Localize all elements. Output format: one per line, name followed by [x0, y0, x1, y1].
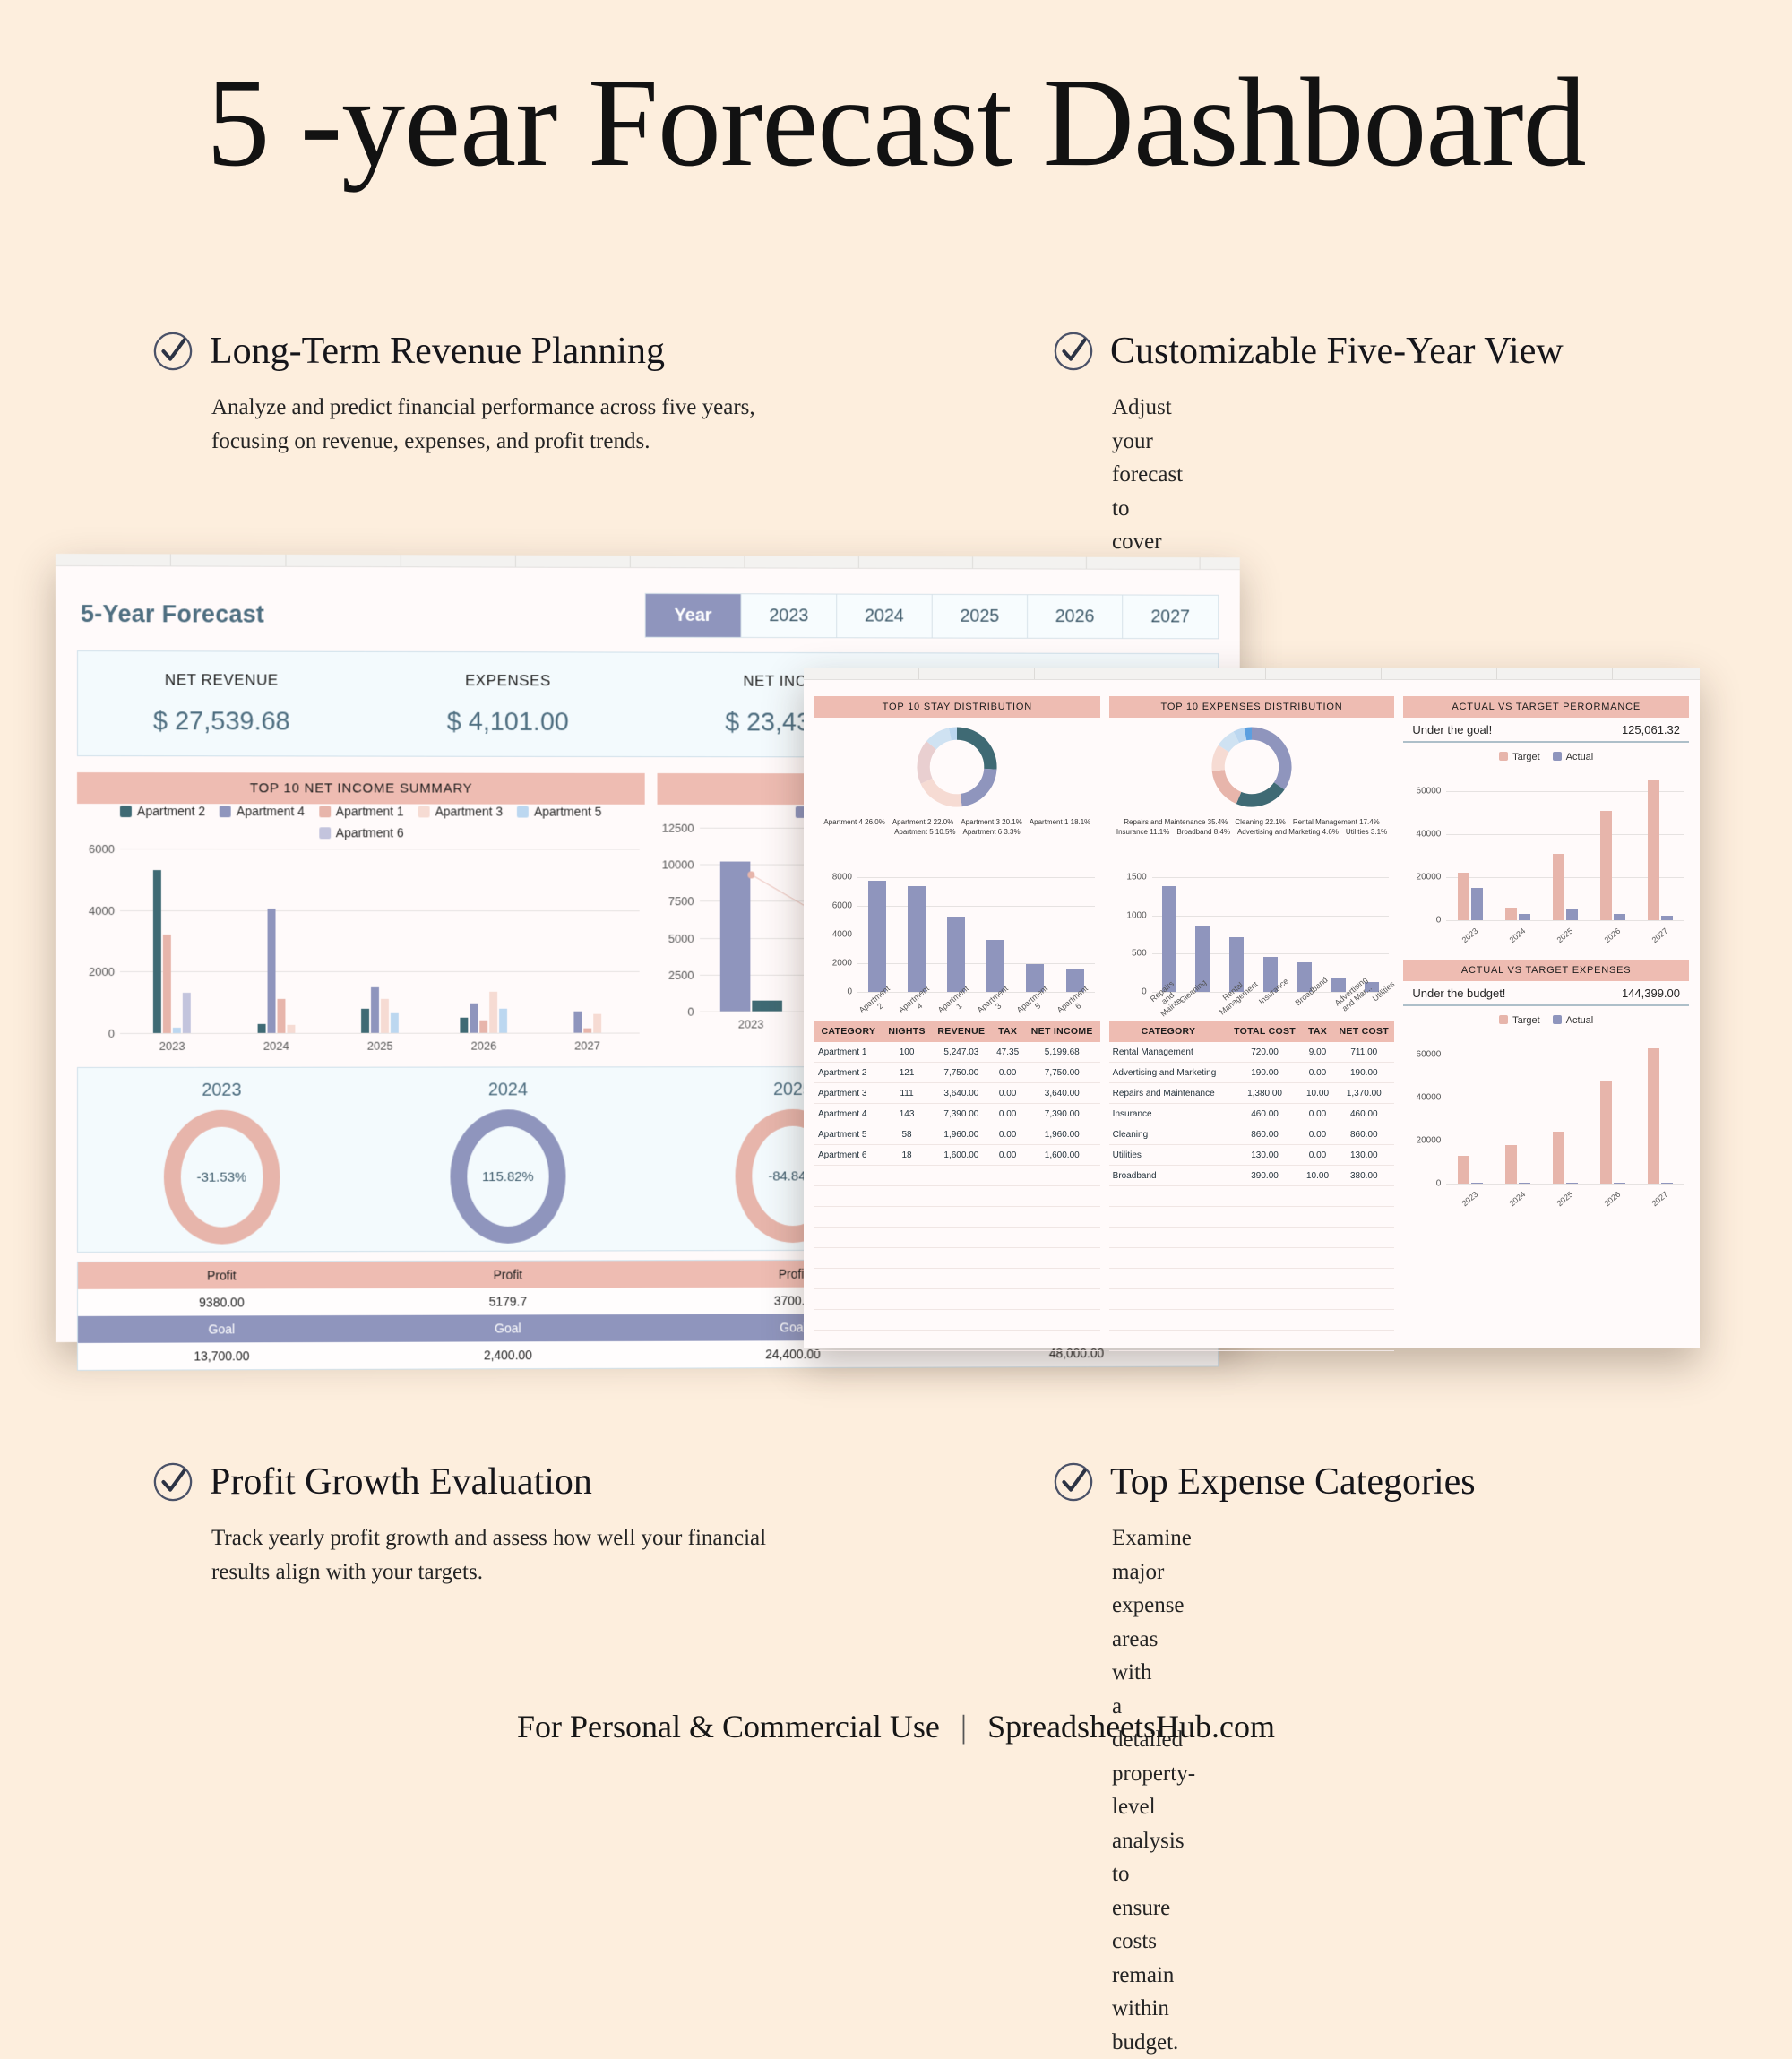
legend-item: Apartment 5 — [517, 805, 601, 819]
table-row-empty — [814, 1310, 1100, 1331]
table-cell: 0.00 — [991, 1063, 1023, 1083]
bar-group — [976, 877, 1015, 992]
donut-slice — [1224, 737, 1236, 749]
table-cell — [1333, 1186, 1394, 1207]
table-row-empty — [814, 1166, 1100, 1186]
table-cell — [814, 1228, 883, 1248]
goal-value: 13,700.00 — [78, 1342, 365, 1370]
table-cell: Apartment 1 — [814, 1042, 883, 1063]
table-cell — [883, 1186, 932, 1207]
bar-group — [1152, 877, 1186, 992]
table-cell: 1,380.00 — [1228, 1083, 1302, 1104]
table-cell — [1024, 1310, 1100, 1331]
table-cell: 0.00 — [1302, 1124, 1333, 1145]
year-tab-2027[interactable]: 2027 — [1123, 595, 1218, 638]
panel-header-stay: TOP 10 STAY DISTRIBUTION — [814, 696, 1100, 718]
bar-group — [1185, 877, 1219, 992]
bar — [267, 909, 275, 1033]
legend-item: Actual — [1553, 1015, 1594, 1026]
donut-label: Cleaning 22.1% — [1235, 818, 1285, 827]
expenses-status: Under the budget! 144,399.00 — [1403, 981, 1689, 1006]
year-tab-label[interactable]: Year — [646, 594, 742, 637]
bar — [480, 1021, 488, 1033]
table-cell: 3,640.00 — [931, 1083, 991, 1104]
features-bottom: Profit Growth Evaluation Track yearly pr… — [0, 1460, 1792, 2059]
plot-area — [1152, 877, 1390, 992]
table-cell: 18 — [883, 1145, 932, 1166]
bar — [908, 886, 926, 992]
chart-actual-vs-target-expenses: 020000400006000020232024202520262027 — [1403, 1033, 1689, 1203]
bar-group — [224, 849, 328, 1033]
table-cell: 0.00 — [991, 1145, 1023, 1166]
table-cell — [1228, 1248, 1302, 1269]
table-cell: 5,199.68 — [1024, 1042, 1100, 1063]
table-cell: 47.35 — [991, 1042, 1023, 1063]
table-column-header: CATEGORY — [1109, 1021, 1228, 1042]
table-cell: 0.00 — [991, 1104, 1023, 1124]
table-row-empty — [1109, 1269, 1395, 1289]
bar-group — [1589, 770, 1636, 920]
table-row-empty — [1109, 1248, 1395, 1269]
expenses-status-value: 144,399.00 — [1622, 986, 1680, 1000]
table-cell — [814, 1310, 883, 1331]
legend-item: Apartment 6 — [319, 825, 404, 840]
table-cell — [931, 1310, 991, 1331]
donut-label: Repairs and Maintenance 35.4% — [1124, 818, 1228, 827]
table-cell: 860.00 — [1333, 1124, 1394, 1145]
donut-year: 2023 — [78, 1081, 365, 1101]
table-cell: 111 — [883, 1083, 932, 1104]
profit-value: 5179.7 — [365, 1288, 650, 1315]
table-cell — [1109, 1310, 1228, 1331]
table-cell: 380.00 — [1333, 1166, 1394, 1186]
table-cell: 7,390.00 — [1024, 1104, 1100, 1124]
bar-group — [120, 849, 224, 1033]
goal-header: Goal — [78, 1315, 365, 1343]
table-row-empty — [814, 1248, 1100, 1269]
table-cell — [1302, 1207, 1333, 1228]
legend-item: Apartment 4 — [220, 804, 305, 818]
donut-label: Broadband 8.4% — [1176, 828, 1230, 837]
bar — [287, 1025, 295, 1033]
table-cell — [1024, 1331, 1100, 1351]
donut-slice — [924, 745, 932, 781]
x-axis-labels: 20232024202520262027 — [1446, 931, 1684, 940]
donut-chart — [908, 718, 1006, 816]
legend-item: Apartment 1 — [319, 804, 404, 818]
bar — [947, 917, 965, 992]
column-actual-vs-target: ACTUAL VS TARGET PERORMANCE Under the go… — [1403, 696, 1689, 1351]
table-cell: 720.00 — [1228, 1042, 1302, 1063]
bar — [1505, 908, 1517, 920]
donut-labels: Repairs and Maintenance 35.4%Cleaning 22… — [1109, 818, 1395, 837]
donut-labels: Apartment 4 26.0%Apartment 2 22.0%Apartm… — [814, 818, 1100, 837]
kpi-value: $ 4,101.00 — [365, 707, 650, 737]
table-cell — [991, 1207, 1023, 1228]
bar — [573, 1012, 582, 1033]
kpi-label: NET REVENUE — [78, 671, 365, 690]
goal-header: Goal — [365, 1314, 650, 1342]
bar — [1600, 1081, 1612, 1184]
legend-item: Apartment 3 — [418, 804, 504, 818]
donut-slice — [932, 734, 951, 745]
table-row-empty — [1109, 1310, 1395, 1331]
footer-right: SpreadsheetsHub.com — [987, 1709, 1275, 1745]
table-cell — [1333, 1289, 1394, 1310]
bar — [183, 993, 191, 1033]
year-selector[interactable]: Year 2023 2024 2025 2026 2027 — [645, 593, 1219, 639]
bar — [1566, 909, 1578, 920]
table-cell: 9.00 — [1302, 1042, 1333, 1063]
table-cell — [931, 1186, 991, 1207]
bar — [1553, 854, 1564, 920]
table-cell — [1024, 1166, 1100, 1186]
table-row-empty — [1109, 1331, 1395, 1351]
bar-group — [1322, 877, 1356, 992]
bar-group — [857, 877, 897, 992]
spreadsheet-column-headers — [804, 668, 1700, 680]
top-pink-headers — [804, 680, 1700, 687]
x-axis-labels: 20232024202520262027 — [120, 1039, 639, 1053]
panel-header-expenses: TOP 10 EXPENSES DISTRIBUTION — [1109, 696, 1395, 718]
donut-slice — [1245, 734, 1252, 735]
table-cell — [1333, 1310, 1394, 1331]
expense-table: CATEGORYTOTAL COSTTAXNET COST Rental Man… — [1109, 1021, 1395, 1351]
table-row-empty — [1109, 1207, 1395, 1228]
donut-label: Apartment 3 20.1% — [961, 818, 1021, 827]
table-cell — [1333, 1269, 1394, 1289]
plot-area — [120, 849, 639, 1033]
panel-net-income-summary: TOP 10 NET INCOME SUMMARY Apartment 2Apa… — [77, 772, 644, 1053]
chart-expenses-bars: 050010001500Repairs and Mainte...Cleanin… — [1109, 877, 1395, 1012]
bar-group — [1541, 1033, 1589, 1184]
table-cell — [1024, 1248, 1100, 1269]
bar — [1505, 1145, 1517, 1184]
table-row: Apartment 41437,390.000.007,390.00 — [814, 1104, 1100, 1124]
table-cell — [1333, 1207, 1394, 1228]
table-cell — [1024, 1228, 1100, 1248]
chart-top10-net-income: 020004000600020232024202520262027 — [77, 849, 644, 1053]
donut-year: 2024 — [365, 1080, 650, 1100]
table-cell — [1228, 1186, 1302, 1207]
bar-group — [432, 849, 536, 1032]
table-cell — [1333, 1331, 1394, 1351]
table-cell — [1302, 1248, 1333, 1269]
donut-label: Apartment 1 18.1% — [1030, 818, 1090, 827]
feature-title: Top Expense Categories — [1110, 1460, 1476, 1503]
y-axis: 0200004000060000 — [1403, 770, 1444, 920]
table-row: Apartment 11005,247.0347.355,199.68 — [814, 1042, 1100, 1063]
distribution-columns: TOP 10 STAY DISTRIBUTION Apartment 4 26.… — [804, 687, 1700, 1351]
bar-group — [1015, 877, 1055, 992]
table-row: Apartment 31113,640.000.003,640.00 — [814, 1083, 1100, 1104]
column-stay-distribution: TOP 10 STAY DISTRIBUTION Apartment 4 26.… — [814, 696, 1100, 1351]
table-cell — [1109, 1248, 1228, 1269]
feature-top-expense-categories: Top Expense Categories Examine major exp… — [63, 1460, 1089, 2059]
donut-label: Utilities 3.1% — [1346, 828, 1387, 837]
dashboard-title: 5-Year Forecast — [81, 600, 264, 629]
table-cell: Insurance — [1109, 1104, 1228, 1124]
performance-status-text: Under the goal! — [1412, 723, 1492, 737]
table-cell: 130.00 — [1333, 1145, 1394, 1166]
table-row-empty — [814, 1186, 1100, 1207]
kpi-net-revenue: NET REVENUE $ 27,539.68 — [78, 671, 365, 737]
table-cell — [1024, 1289, 1100, 1310]
bar-group — [536, 849, 639, 1032]
table-cell: Broadband — [1109, 1166, 1228, 1186]
footer: For Personal & Commercial Use | Spreadsh… — [0, 1708, 1792, 1745]
donut-value: -31.53% — [163, 1110, 280, 1245]
y-axis: 02000400060008000 — [814, 877, 856, 992]
bar — [1553, 1132, 1564, 1184]
panel-header: TOP 10 NET INCOME SUMMARY — [77, 772, 644, 805]
plot-area — [1446, 1033, 1684, 1184]
bar — [593, 1014, 601, 1033]
table-cell — [1109, 1207, 1228, 1228]
year-tab-2026[interactable]: 2026 — [1028, 595, 1123, 638]
table-cell — [814, 1269, 883, 1289]
table-cell — [991, 1289, 1023, 1310]
table-cell — [1228, 1228, 1302, 1248]
table-cell — [1228, 1310, 1302, 1331]
table-cell: 7,750.00 — [931, 1063, 991, 1083]
footer-separator: | — [961, 1709, 967, 1745]
table-cell — [1109, 1269, 1228, 1289]
performance-status-value: 125,061.32 — [1622, 723, 1680, 737]
bar — [163, 935, 171, 1033]
table-cell — [1228, 1289, 1302, 1310]
bar — [868, 881, 886, 992]
donut-label: Rental Management 17.4% — [1293, 818, 1380, 827]
table-cell — [1302, 1186, 1333, 1207]
bar — [499, 1008, 507, 1032]
table-column-header: NET INCOME — [1024, 1021, 1100, 1042]
year-tab-2023[interactable]: 2023 — [742, 594, 838, 637]
performance-status: Under the goal! 125,061.32 — [1403, 718, 1689, 743]
footer-left: For Personal & Commercial Use — [517, 1709, 940, 1745]
year-tab-2025[interactable]: 2025 — [933, 595, 1028, 638]
revenue-table: CATEGORYNIGHTSREVENUETAXNET INCOME Apart… — [814, 1021, 1100, 1351]
table-cell: 0.00 — [991, 1124, 1023, 1145]
table-row-empty — [1109, 1186, 1395, 1207]
table-cell: Apartment 5 — [814, 1124, 883, 1145]
table-row: Rental Management720.009.00711.00 — [1109, 1042, 1395, 1063]
table-row: Broadband390.0010.00380.00 — [1109, 1166, 1395, 1186]
table-cell: 121 — [883, 1063, 932, 1083]
table-column-header: TAX — [991, 1021, 1023, 1042]
table-cell: 460.00 — [1228, 1104, 1302, 1124]
donut-value: 115.82% — [450, 1109, 565, 1244]
profit-growth-donut: 2023-31.53% — [78, 1081, 365, 1245]
bar — [391, 1012, 399, 1032]
table-row: Apartment 6181,600.000.001,600.00 — [814, 1145, 1100, 1166]
legend-item: Apartment 2 — [120, 804, 205, 818]
table-cell — [1228, 1331, 1302, 1351]
table-cell — [1333, 1228, 1394, 1248]
table-cell — [883, 1228, 932, 1248]
bar — [1648, 1048, 1659, 1184]
donut-slice — [1219, 771, 1239, 798]
bar — [173, 1028, 181, 1033]
legend-performance: TargetActual — [1403, 752, 1689, 762]
table-row: Cleaning860.000.00860.00 — [1109, 1124, 1395, 1145]
table-column-header: TAX — [1302, 1021, 1333, 1042]
donut-label: Apartment 5 10.5% — [894, 828, 955, 837]
panel-header-target-expenses: ACTUAL VS TARGET EXPENSES — [1403, 960, 1689, 981]
donut-slice — [961, 769, 991, 800]
table-cell: 860.00 — [1228, 1124, 1302, 1145]
table-cell: 130.00 — [1228, 1145, 1302, 1166]
legend-item: Target — [1499, 752, 1540, 762]
table-cell — [1109, 1331, 1228, 1351]
check-circle-icon — [1053, 331, 1094, 372]
table-cell — [1024, 1207, 1100, 1228]
chart-stay-bars: 02000400060008000Apartment 2Apartment 4A… — [814, 877, 1100, 1012]
table-cell — [1302, 1289, 1333, 1310]
bar-group — [1589, 1033, 1636, 1184]
table-row: Repairs and Maintenance1,380.0010.001,37… — [1109, 1083, 1395, 1104]
year-tab-2024[interactable]: 2024 — [837, 595, 933, 638]
table-cell: Apartment 4 — [814, 1104, 883, 1124]
legend-net-income: Apartment 2Apartment 4Apartment 1Apartme… — [77, 804, 644, 840]
table-cell — [991, 1248, 1023, 1269]
table-cell: 58 — [883, 1124, 932, 1145]
table-cell — [931, 1207, 991, 1228]
table-cell — [931, 1289, 991, 1310]
table-cell — [1024, 1186, 1100, 1207]
dashboard-header: 5-Year Forecast Year 2023 2024 2025 2026… — [72, 579, 1224, 653]
table-cell: 711.00 — [1333, 1042, 1394, 1063]
table-cell: 190.00 — [1333, 1063, 1394, 1083]
bar-group — [1494, 770, 1541, 920]
donut-slice — [1219, 749, 1224, 771]
table-cell: 143 — [883, 1104, 932, 1124]
bar-group — [897, 877, 936, 992]
donut-slice — [1252, 734, 1285, 787]
table-cell — [931, 1331, 991, 1351]
donut-label: Insurance 11.1% — [1116, 828, 1169, 837]
donut-chart — [1202, 718, 1301, 816]
bar — [1648, 780, 1659, 920]
table-row: Advertising and Marketing190.000.00190.0… — [1109, 1063, 1395, 1083]
bar-group — [1636, 1033, 1684, 1184]
legend-item: Target — [1499, 1015, 1540, 1026]
bar — [153, 870, 161, 1033]
bar — [277, 999, 285, 1033]
table-cell: 10.00 — [1302, 1083, 1333, 1104]
column-expenses-distribution: TOP 10 EXPENSES DISTRIBUTION Repairs and… — [1109, 696, 1395, 1351]
table-row-empty — [814, 1207, 1100, 1228]
table-cell — [991, 1269, 1023, 1289]
legend-item: Actual — [1553, 752, 1594, 762]
table-cell: 1,370.00 — [1333, 1083, 1394, 1104]
panel-header-performance: ACTUAL VS TARGET PERORMANCE — [1403, 696, 1689, 718]
bar-group — [936, 877, 976, 992]
bar — [470, 1004, 478, 1033]
table-row-empty — [814, 1269, 1100, 1289]
table-cell — [883, 1248, 932, 1269]
bar — [361, 1008, 369, 1032]
table-row: Utilities130.000.00130.00 — [1109, 1145, 1395, 1166]
table-row-empty — [814, 1228, 1100, 1248]
table-column-header: REVENUE — [931, 1021, 991, 1042]
table-cell: 0.00 — [1302, 1063, 1333, 1083]
x-axis-labels: Repairs and Mainte...CleaningRental Mana… — [1152, 985, 1390, 1012]
profit-value: 9380.00 — [78, 1288, 365, 1316]
check-circle-icon — [1053, 1461, 1094, 1503]
distribution-dashboard-screenshot[interactable]: TOP 10 STAY DISTRIBUTION Apartment 4 26.… — [804, 668, 1700, 1348]
table-cell — [991, 1228, 1023, 1248]
table-cell — [814, 1186, 883, 1207]
table-cell — [1333, 1248, 1394, 1269]
table-cell — [883, 1269, 932, 1289]
chart-actual-vs-target-performance: 020000400006000020232024202520262027 — [1403, 770, 1689, 940]
donut-label: Apartment 6 3.3% — [963, 828, 1021, 837]
kpi-value: $ 27,539.68 — [78, 707, 365, 737]
table-cell — [991, 1166, 1023, 1186]
bar — [1458, 1156, 1469, 1184]
bar-group — [1446, 770, 1494, 920]
table-cell — [1109, 1228, 1228, 1248]
x-axis-labels: 20232024202520262027 — [1446, 1194, 1684, 1203]
donut-label: Advertising and Marketing 4.6% — [1237, 828, 1339, 837]
table-cell: 1,960.00 — [1024, 1124, 1100, 1145]
table-cell — [991, 1310, 1023, 1331]
table-row: Insurance460.000.00460.00 — [1109, 1104, 1395, 1124]
kpi-label: EXPENSES — [365, 671, 650, 690]
table-cell: 1,600.00 — [931, 1145, 991, 1166]
bar — [461, 1018, 469, 1033]
expenses-status-text: Under the budget! — [1412, 986, 1505, 1000]
page-title: 5 -year Forecast Dashboard — [0, 0, 1792, 189]
profit-header: Profit — [78, 1262, 365, 1289]
bar — [583, 1028, 591, 1032]
bar-group — [1254, 877, 1288, 992]
table-cell: 390.00 — [1228, 1166, 1302, 1186]
donut-slice — [957, 734, 990, 770]
table-column-header: NIGHTS — [883, 1021, 932, 1042]
table-cell — [1302, 1331, 1333, 1351]
table-cell: 7,390.00 — [931, 1104, 991, 1124]
table-row-empty — [1109, 1289, 1395, 1310]
bar — [381, 999, 389, 1033]
x-axis-labels: Apartment 2Apartment 4Apartment 1Apartme… — [857, 994, 1095, 1012]
bar-group — [1055, 877, 1095, 992]
table-row: Apartment 5581,960.000.001,960.00 — [814, 1124, 1100, 1145]
table-cell — [1109, 1186, 1228, 1207]
y-axis: 050010001500 — [1109, 877, 1150, 992]
profit-growth-donut: 2024115.82% — [365, 1080, 650, 1244]
table-cell: 0.00 — [1302, 1145, 1333, 1166]
y-axis: 0200040006000 — [77, 849, 118, 1033]
table-cell: 5,247.03 — [931, 1042, 991, 1063]
table-cell — [814, 1166, 883, 1186]
table-cell — [931, 1228, 991, 1248]
table-row-empty — [814, 1331, 1100, 1351]
kpi-expenses: EXPENSES $ 4,101.00 — [365, 671, 650, 737]
table-cell — [1302, 1228, 1333, 1248]
plot-area — [1446, 770, 1684, 920]
table-cell: 1,600.00 — [1024, 1145, 1100, 1166]
plot-area — [857, 877, 1095, 992]
table-cell: 3,640.00 — [1024, 1083, 1100, 1104]
table-cell — [814, 1207, 883, 1228]
donut-slice — [1239, 786, 1279, 800]
table-cell: 190.00 — [1228, 1063, 1302, 1083]
table-cell — [1228, 1269, 1302, 1289]
bar — [1471, 888, 1483, 920]
donut-slice — [1236, 734, 1245, 737]
